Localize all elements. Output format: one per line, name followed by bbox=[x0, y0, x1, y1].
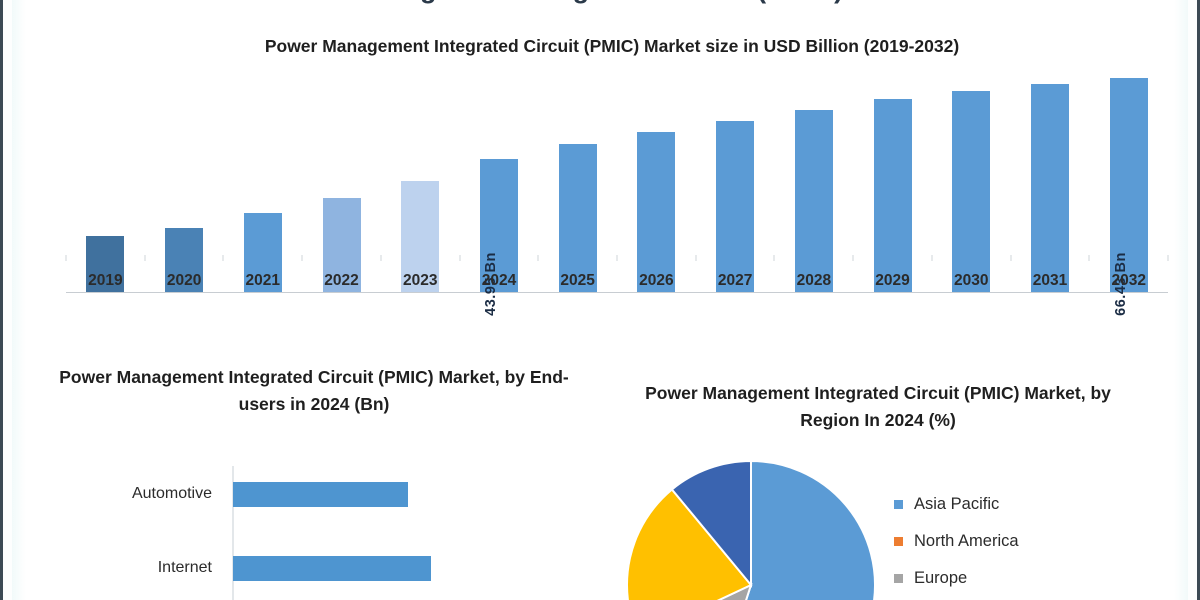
end-users-chart-title: Power Management Integrated Circuit (PMI… bbox=[54, 364, 574, 417]
axis-tick bbox=[1010, 255, 1011, 261]
axis-tick bbox=[66, 255, 67, 261]
infographic-page: Power Management Integrated Circuit (PMI… bbox=[0, 0, 1200, 600]
pie-graphic bbox=[626, 460, 876, 600]
main-chart-plot: 2019202020212022202343.95 Bn202420252026… bbox=[66, 78, 1168, 330]
axis-tick bbox=[853, 255, 854, 261]
banner-title: Power Management Integrated Circuit (PMI… bbox=[12, 0, 1188, 5]
axis-tick bbox=[774, 255, 775, 261]
x-axis-label-2031: 2031 bbox=[1033, 272, 1067, 290]
pie-wrap bbox=[626, 460, 896, 600]
bar-2030 bbox=[952, 91, 990, 292]
x-axis-label-2021: 2021 bbox=[246, 272, 280, 290]
bar-2031 bbox=[1031, 84, 1069, 292]
bar-column: 2029 bbox=[853, 78, 932, 292]
region-chart-title: Power Management Integrated Circuit (PMI… bbox=[628, 380, 1128, 433]
x-axis-label-2027: 2027 bbox=[718, 272, 752, 290]
legend-item: North America bbox=[894, 523, 1194, 560]
pie-legend: Asia PacificNorth AmericaEurope bbox=[894, 486, 1194, 597]
inner-frame: Power Management Integrated Circuit (PMI… bbox=[12, 0, 1188, 600]
legend-swatch-icon bbox=[894, 574, 903, 583]
bar-column: 2022 bbox=[302, 78, 381, 292]
legend-item: Europe bbox=[894, 560, 1194, 597]
bar-column: 66.43 Bn2032 bbox=[1089, 78, 1168, 292]
bar-2032: 66.43 Bn bbox=[1110, 78, 1148, 292]
legend-swatch-icon bbox=[894, 500, 903, 509]
legend-label: North America bbox=[914, 532, 1019, 551]
x-axis-label-2022: 2022 bbox=[324, 272, 358, 290]
x-axis-label-2024: 2024 bbox=[482, 272, 516, 290]
end-users-plot: AutomotiveInternet bbox=[26, 462, 616, 600]
main-chart-title: Power Management Integrated Circuit (PMI… bbox=[112, 34, 1112, 59]
bar-2026 bbox=[637, 132, 675, 293]
bar-2025 bbox=[559, 144, 597, 292]
legend-swatch-icon bbox=[894, 537, 903, 546]
main-bar-chart: Power Management Integrated Circuit (PMI… bbox=[24, 30, 1200, 335]
main-chart-bars: 2019202020212022202343.95 Bn202420252026… bbox=[66, 78, 1168, 292]
bar-column: 2021 bbox=[223, 78, 302, 292]
legend-label: Europe bbox=[914, 569, 967, 588]
axis-tick bbox=[459, 255, 460, 261]
x-axis-label-2032: 2032 bbox=[1111, 272, 1145, 290]
bar-column: 43.95 Bn2024 bbox=[460, 78, 539, 292]
end-users-bar-automotive bbox=[233, 482, 408, 507]
axis-tick bbox=[1168, 255, 1169, 261]
end-users-label-automotive: Automotive bbox=[26, 485, 224, 503]
bar-column: 2028 bbox=[774, 78, 853, 292]
axis-tick bbox=[931, 255, 932, 261]
x-axis-label-2020: 2020 bbox=[167, 272, 201, 290]
x-axis-label-2025: 2025 bbox=[560, 272, 594, 290]
legend-label: Asia Pacific bbox=[914, 495, 999, 514]
region-pie-chart: Power Management Integrated Circuit (PMI… bbox=[616, 378, 1200, 600]
axis-tick bbox=[223, 255, 224, 261]
x-axis-label-2030: 2030 bbox=[954, 272, 988, 290]
bar-column: 2026 bbox=[617, 78, 696, 292]
axis-tick bbox=[617, 255, 618, 261]
bar-column: 2025 bbox=[538, 78, 617, 292]
end-users-row: Automotive bbox=[26, 480, 616, 508]
end-users-bar-chart: Power Management Integrated Circuit (PMI… bbox=[26, 362, 616, 600]
axis-tick bbox=[302, 255, 303, 261]
bar-column: 2030 bbox=[932, 78, 1011, 292]
axis-tick bbox=[1089, 255, 1090, 261]
axis-tick bbox=[695, 255, 696, 261]
bar-2027 bbox=[716, 121, 754, 292]
end-users-bar-internet bbox=[233, 556, 431, 581]
bar-column: 2020 bbox=[145, 78, 224, 292]
axis-tick bbox=[380, 255, 381, 261]
end-users-label-internet: Internet bbox=[26, 559, 224, 577]
axis-tick bbox=[538, 255, 539, 261]
bar-column: 2023 bbox=[381, 78, 460, 292]
x-axis-label-2023: 2023 bbox=[403, 272, 437, 290]
pie-svg bbox=[626, 460, 876, 600]
bar-column: 2031 bbox=[1011, 78, 1090, 292]
bar-column: 2019 bbox=[66, 78, 145, 292]
bar-2028 bbox=[795, 110, 833, 292]
bar-2029 bbox=[874, 99, 912, 292]
legend-item: Asia Pacific bbox=[894, 486, 1194, 523]
bar-column: 2027 bbox=[696, 78, 775, 292]
x-axis-label-2029: 2029 bbox=[875, 272, 909, 290]
axis-tick bbox=[144, 255, 145, 261]
x-axis-label-2028: 2028 bbox=[797, 272, 831, 290]
x-axis-label-2026: 2026 bbox=[639, 272, 673, 290]
end-users-row: Internet bbox=[26, 554, 616, 582]
x-axis-label-2019: 2019 bbox=[88, 272, 122, 290]
